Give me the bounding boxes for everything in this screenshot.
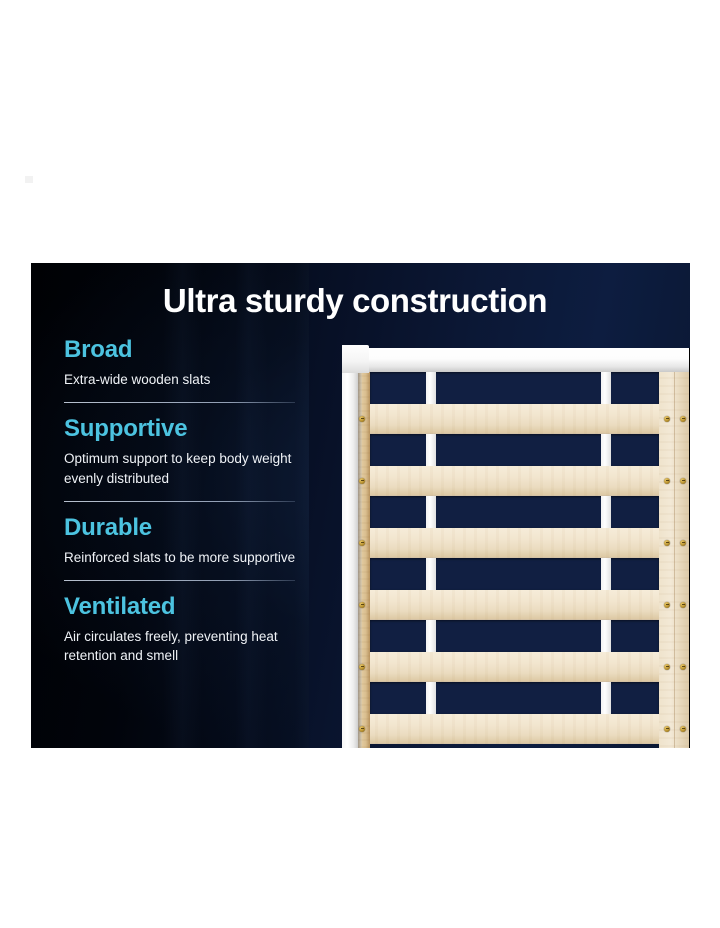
- brass-screw: [664, 416, 670, 422]
- brass-screw: [359, 664, 365, 670]
- feature-item-durable: Durable Reinforced slats to be more supp…: [64, 515, 296, 568]
- feature-title: Ventilated: [64, 594, 296, 620]
- frame-edge-shadow: [689, 348, 690, 748]
- feature-title: Durable: [64, 515, 296, 541]
- feature-description: Air circulates freely, preventing heat r…: [64, 627, 296, 667]
- white-frame-post: [342, 345, 358, 748]
- wooden-slat: [364, 466, 690, 496]
- wooden-slat: [364, 714, 690, 744]
- brass-screw: [680, 726, 686, 732]
- feature-description: Extra-wide wooden slats: [64, 370, 296, 390]
- brass-screw: [680, 664, 686, 670]
- feature-divider: [64, 501, 295, 502]
- brass-screw: [359, 540, 365, 546]
- brass-screw: [664, 664, 670, 670]
- feature-description: Reinforced slats to be more supportive: [64, 548, 296, 568]
- brass-screw: [680, 602, 686, 608]
- feature-divider: [64, 402, 295, 403]
- brass-screw: [664, 726, 670, 732]
- white-frame-top-rail: [342, 348, 690, 372]
- brass-screw: [664, 602, 670, 608]
- wooden-rail-seam: [674, 361, 675, 748]
- feature-item-ventilated: Ventilated Air circulates freely, preven…: [64, 594, 296, 667]
- brass-screw: [359, 602, 365, 608]
- white-frame-corner-cap: [342, 345, 369, 373]
- bed-slat-illustration: [309, 263, 690, 748]
- feature-title: Supportive: [64, 416, 296, 442]
- feature-description: Optimum support to keep body weight even…: [64, 449, 296, 489]
- page-title: Ultra sturdy construction: [145, 282, 565, 320]
- brass-screw: [359, 726, 365, 732]
- feature-title: Broad: [64, 337, 296, 363]
- feature-list: Broad Extra-wide wooden slats Supportive…: [64, 337, 296, 666]
- feature-divider: [64, 580, 295, 581]
- brass-screw: [680, 540, 686, 546]
- wooden-slat: [364, 590, 690, 620]
- stray-artifact-mark: [25, 176, 33, 183]
- brass-screw: [359, 416, 365, 422]
- brass-screw: [680, 478, 686, 484]
- wooden-slat: [364, 528, 690, 558]
- brass-screw: [680, 416, 686, 422]
- wooden-slat: [364, 652, 690, 682]
- wooden-slat: [364, 404, 690, 434]
- feature-item-supportive: Supportive Optimum support to keep body …: [64, 416, 296, 489]
- product-feature-banner: Ultra sturdy construction Broad Extra-wi…: [31, 263, 690, 748]
- brass-screw: [664, 478, 670, 484]
- brass-screw: [664, 540, 670, 546]
- feature-item-broad: Broad Extra-wide wooden slats: [64, 337, 296, 390]
- brass-screw: [359, 478, 365, 484]
- page-root: Ultra sturdy construction Broad Extra-wi…: [0, 0, 720, 928]
